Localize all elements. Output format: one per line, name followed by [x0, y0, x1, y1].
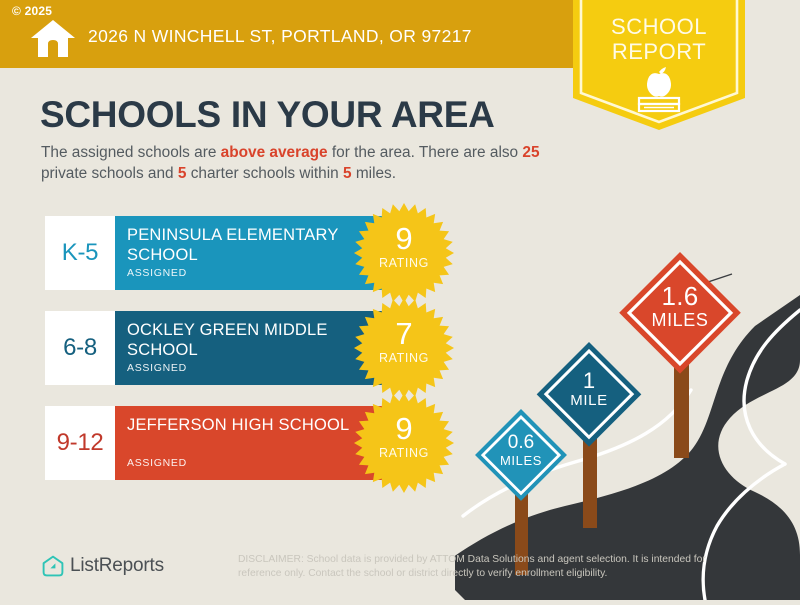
rating-value: 7 [352, 318, 456, 349]
listreports-house-icon [42, 555, 64, 577]
sign-unit: MILES [615, 310, 745, 331]
rating-label: RATING [352, 351, 456, 365]
sign-unit: MILES [471, 453, 571, 468]
grade-range-label: 9-12 [57, 429, 104, 457]
rating-badge: 9 RATING [352, 201, 456, 305]
grade-range-label: K-5 [62, 239, 98, 267]
school-status: ASSIGNED [127, 267, 187, 279]
rating-label: RATING [352, 256, 456, 270]
rating-badge: 7 RATING [352, 296, 456, 400]
rating-value: 9 [352, 413, 456, 444]
grade-range-box: K-5 [45, 216, 115, 290]
school-name: PENINSULA ELEMENTARY SCHOOL [127, 226, 357, 265]
road-scene: 1.6 MILES 1 MILE 0.6 MILES [455, 240, 800, 600]
sign-value: 1.6 [615, 281, 745, 312]
disclaimer-text: DISCLAIMER: School data is provided by A… [238, 553, 738, 581]
school-bar: PENINSULA ELEMENTARY SCHOOL ASSIGNED [115, 216, 390, 290]
rating-value: 9 [352, 223, 456, 254]
school-report-badge: SCHOOL REPORT [565, 0, 753, 134]
home-icon [30, 18, 76, 58]
apple-on-book-icon [631, 66, 687, 114]
sign-value: 0.6 [471, 432, 571, 454]
school-name: JEFFERSON HIGH SCHOOL [127, 416, 357, 436]
copyright-text: © 2025 [12, 4, 52, 18]
sign-0-6-miles: 0.6 MILES [471, 405, 571, 570]
summary-text: The assigned schools are above average f… [41, 142, 571, 184]
school-bar: JEFFERSON HIGH SCHOOL ASSIGNED [115, 406, 390, 480]
page-title: SCHOOLS IN YOUR AREA [40, 94, 495, 136]
school-bar: OCKLEY GREEN MIDDLE SCHOOL ASSIGNED [115, 311, 390, 385]
sign-value: 1 [533, 368, 645, 394]
rating-label: RATING [352, 446, 456, 460]
school-status: ASSIGNED [127, 457, 187, 469]
rating-badge: 9 RATING [352, 391, 456, 495]
listreports-wordmark: ListReports [70, 555, 164, 577]
school-status: ASSIGNED [127, 362, 187, 374]
badge-title-line1: SCHOOL [611, 14, 707, 39]
school-name: OCKLEY GREEN MIDDLE SCHOOL [127, 321, 357, 360]
address-header: © 2025 2026 N WINCHELL ST, PORTLAND, OR … [0, 0, 578, 68]
grade-range-label: 6-8 [63, 334, 97, 362]
property-address: 2026 N WINCHELL ST, PORTLAND, OR 97217 [88, 26, 472, 47]
grade-range-box: 9-12 [45, 406, 115, 480]
infographic-canvas: 1.6 MILES 1 MILE 0.6 MILES © 2025 [0, 0, 800, 600]
badge-title: SCHOOL REPORT [565, 14, 753, 64]
badge-title-line2: REPORT [612, 39, 706, 64]
grade-range-box: 6-8 [45, 311, 115, 385]
